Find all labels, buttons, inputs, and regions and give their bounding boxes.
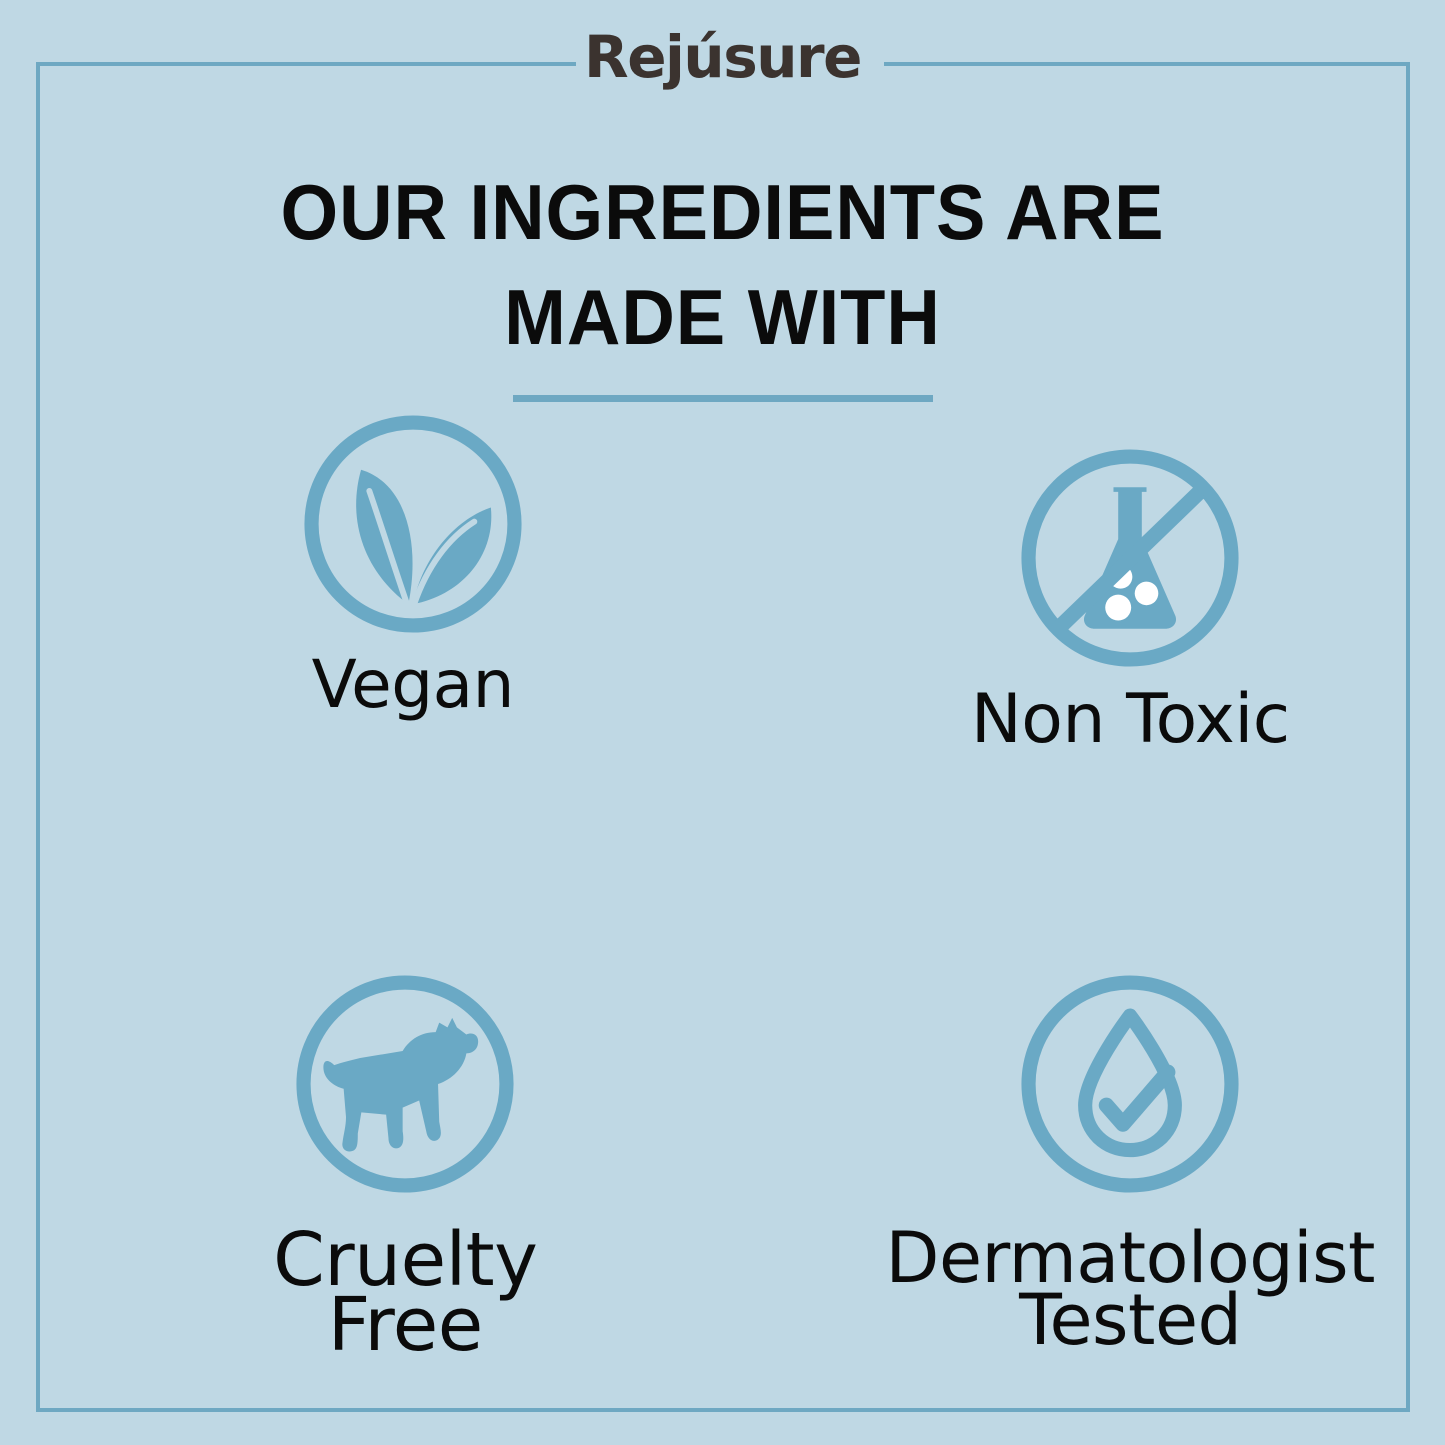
poster-canvas: Rejúsure OUR INGREDIENTS ARE MADE WITH V… bbox=[0, 0, 1445, 1445]
page-title-line-1: OUR INGREDIENTS ARE bbox=[36, 160, 1409, 265]
badge-cruelty-free-label: Cruelty Free bbox=[273, 1228, 537, 1358]
badge-vegan-label: Vegan bbox=[312, 656, 514, 714]
badge-cruelty-free: Cruelty Free bbox=[70, 880, 696, 1360]
badge-vegan: Vegan bbox=[70, 400, 696, 880]
leaves-in-circle-icon bbox=[295, 406, 531, 642]
badge-non-toxic: Non Toxic bbox=[696, 400, 1375, 880]
page-title: OUR INGREDIENTS ARE MADE WITH bbox=[0, 160, 1445, 402]
dog-in-circle-icon bbox=[287, 966, 523, 1202]
badge-non-toxic-label: Non Toxic bbox=[971, 690, 1290, 750]
badge-dermatologist-tested: Dermatologist Tested bbox=[696, 880, 1375, 1360]
brand-logo: Rejúsure bbox=[0, 28, 1445, 86]
page-title-line-2: MADE WITH bbox=[36, 265, 1409, 370]
badge-dermatologist-tested-label: Dermatologist Tested bbox=[886, 1228, 1375, 1351]
frame-border-bottom bbox=[36, 1408, 1410, 1412]
droplet-check-icon bbox=[1012, 966, 1248, 1202]
badge-grid: Vegan Non Toxic bbox=[70, 400, 1375, 1360]
no-toxic-flask-icon bbox=[1012, 440, 1248, 676]
